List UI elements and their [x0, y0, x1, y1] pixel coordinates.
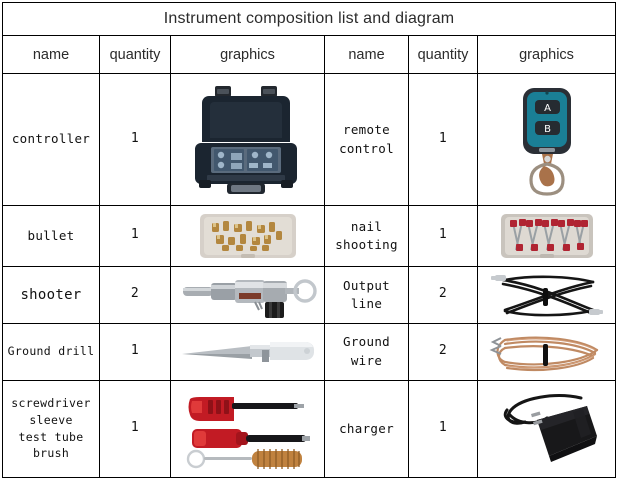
item-quantity-charger: 1: [409, 380, 478, 477]
item-quantity-remote-control: 1: [409, 74, 478, 206]
ground-drill-icon: [178, 330, 318, 374]
item-name-bullet: bullet: [3, 205, 100, 266]
output-line-cable-icon: [485, 270, 609, 320]
instrument-composition-sheet: Instrument composition list and diagram …: [0, 2, 617, 482]
item-name-nail-shooting: nail shooting: [325, 205, 409, 266]
header-name-left: name: [3, 36, 100, 74]
item-graphic-remote-control: A B: [478, 74, 616, 206]
item-name-screwdriver-set: screwdriver sleeve test tube brush: [3, 380, 100, 477]
page-title: Instrument composition list and diagram: [3, 3, 616, 36]
item-name-controller: controller: [3, 74, 100, 206]
item-quantity-ground-wire: 2: [409, 323, 478, 380]
remote-button-a-label: A: [544, 103, 551, 114]
hard-case-controller-icon: [183, 80, 313, 200]
screwdriver-set-icon: [178, 385, 318, 473]
item-name-output-line: Output line: [325, 266, 409, 323]
item-quantity-bullet: 1: [100, 205, 171, 266]
item-graphic-bullet: [171, 205, 325, 266]
item-quantity-ground-drill: 1: [100, 323, 171, 380]
item-graphic-screwdriver-set: [171, 380, 325, 477]
item-graphic-shooter: [171, 266, 325, 323]
item-graphic-output-line: [478, 266, 616, 323]
item-graphic-ground-drill: [171, 323, 325, 380]
header-quantity-left: quantity: [100, 36, 171, 74]
header-row: name quantity graphics name quantity gra…: [3, 36, 616, 74]
table-row: controller 1: [3, 74, 616, 206]
header-graphics-right: graphics: [478, 36, 616, 74]
item-graphic-ground-wire: [478, 323, 616, 380]
header-name-right: name: [325, 36, 409, 74]
charger-adapter-icon: [485, 384, 609, 474]
item-graphic-charger: [478, 380, 616, 477]
item-quantity-controller: 1: [100, 74, 171, 206]
header-quantity-right: quantity: [409, 36, 478, 74]
table-row: bullet 1: [3, 205, 616, 266]
item-name-ground-wire: Ground wire: [325, 323, 409, 380]
remote-button-b-label: B: [544, 124, 551, 135]
item-quantity-nail-shooting: 1: [409, 205, 478, 266]
item-graphic-nail-shooting: [478, 205, 616, 266]
item-graphic-controller: [171, 74, 325, 206]
item-name-charger: charger: [325, 380, 409, 477]
ground-wire-coil-icon: [485, 328, 609, 376]
title-row: Instrument composition list and diagram: [3, 3, 616, 36]
table-row: Ground drill 1: [3, 323, 616, 380]
table-row: shooter 2: [3, 266, 616, 323]
item-quantity-screwdriver-set: 1: [100, 380, 171, 477]
item-name-ground-drill: Ground drill: [3, 323, 100, 380]
header-graphics-left: graphics: [171, 36, 325, 74]
table-row: screwdriver sleeve test tube brush 1: [3, 380, 616, 477]
bullet-box-icon: [192, 209, 304, 263]
shooter-tool-icon: [177, 270, 319, 320]
composition-table: Instrument composition list and diagram …: [2, 2, 616, 478]
item-name-remote-control: remote control: [325, 74, 409, 206]
item-name-shooter: shooter: [3, 266, 100, 323]
remote-control-icon: A B: [487, 80, 607, 200]
item-quantity-shooter: 2: [100, 266, 171, 323]
nail-box-icon: [495, 210, 599, 262]
item-quantity-output-line: 2: [409, 266, 478, 323]
